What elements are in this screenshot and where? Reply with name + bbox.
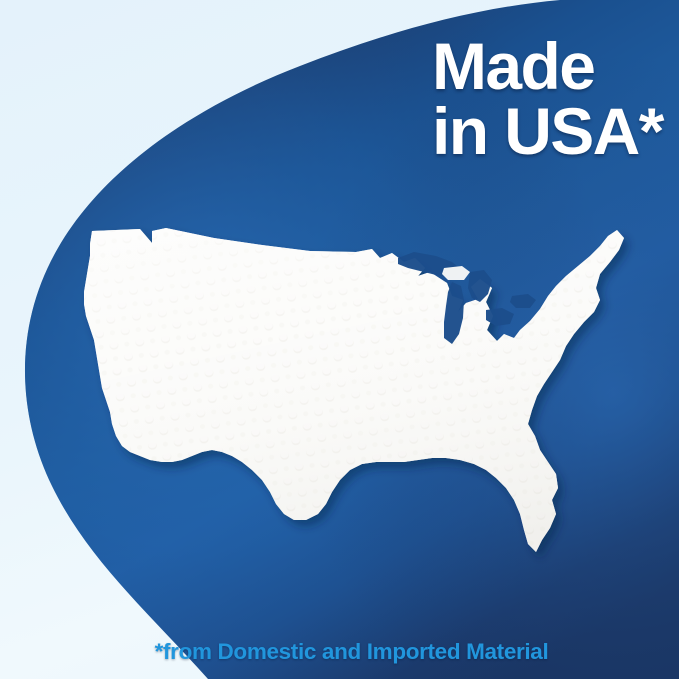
footnote-disclaimer: *from Domestic and Imported Material <box>0 639 679 665</box>
page-title: Made in USA* <box>432 34 672 163</box>
made-in-usa-banner: Made in USA* *from Domestic and Imported… <box>0 0 679 679</box>
